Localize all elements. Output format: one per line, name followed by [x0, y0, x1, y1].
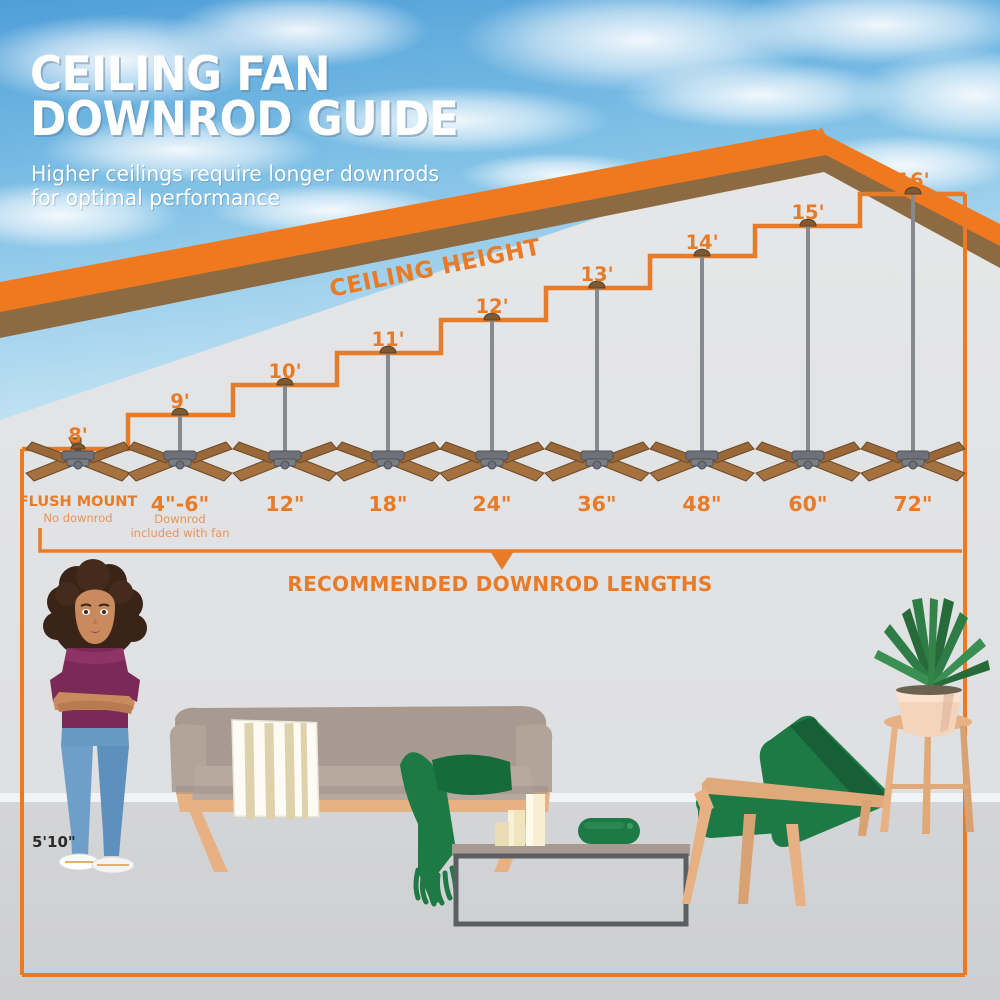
person-height-label: 5'10" — [32, 833, 76, 851]
recommended-downrod-caption: RECOMMENDED DOWNROD LENGTHS — [287, 572, 712, 596]
downrod-label-15ft: 60" — [788, 492, 827, 516]
height-label-9ft: 9' — [170, 390, 190, 413]
downrod-label-11ft: 18" — [368, 492, 407, 516]
height-label-16ft: 16' — [896, 169, 929, 192]
subtitle-line-1: Higher ceilings require longer downrods — [31, 162, 439, 187]
downrod-label-13ft: 36" — [577, 492, 616, 516]
downrod-label-12ft: 24" — [472, 492, 511, 516]
page-subtitle: Higher ceilings require longer downrodsf… — [31, 163, 439, 211]
title-line-2: DOWNROD GUIDE — [30, 92, 458, 147]
page-title: CEILING FANDOWNROD GUIDE — [30, 52, 458, 142]
downrod-label-14ft: 48" — [682, 492, 721, 516]
height-label-15ft: 15' — [791, 201, 824, 224]
height-label-10ft: 10' — [268, 360, 301, 383]
height-label-13ft: 13' — [580, 263, 613, 286]
green-bowl — [578, 818, 640, 844]
striped-pillow — [226, 713, 325, 826]
height-label-12ft: 12' — [475, 295, 508, 318]
downrod-note-9ft: Downrodincluded with fan — [130, 513, 229, 540]
infographic-canvas: CEILING FANDOWNROD GUIDE Higher ceilings… — [0, 0, 1000, 1000]
downrod-label-8ft: FLUSH MOUNT — [19, 494, 138, 510]
downrod-label-16ft: 72" — [893, 492, 932, 516]
subtitle-line-2: for optimal performance — [31, 186, 280, 211]
downrod-note-8ft: No downrod — [43, 512, 112, 526]
downrod-label-10ft: 12" — [265, 492, 304, 516]
height-label-14ft: 14' — [685, 231, 718, 254]
height-label-11ft: 11' — [371, 328, 404, 351]
height-label-8ft: 8' — [68, 424, 88, 447]
